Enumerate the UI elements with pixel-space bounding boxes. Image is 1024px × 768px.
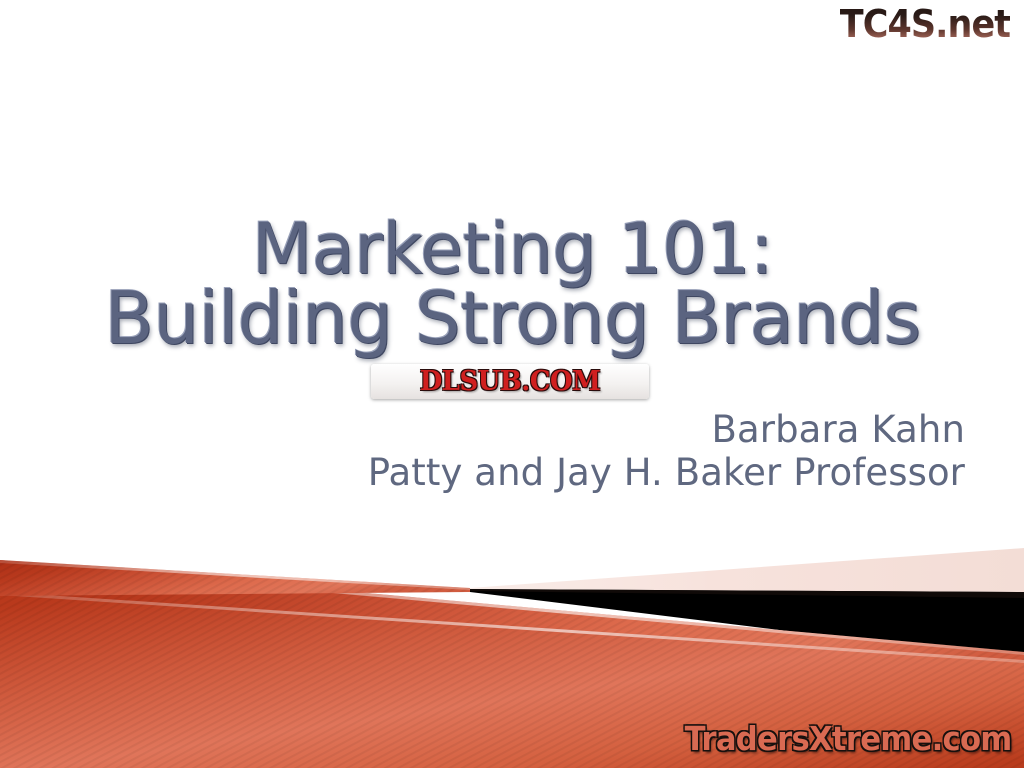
subtitle-line-affiliation: Patty and Jay H. Baker Professor [60, 451, 965, 494]
slide-title: Marketing 101: Building Strong Brands [60, 216, 965, 354]
black-band [470, 589, 1024, 660]
title-line-1: Marketing 101: [60, 216, 965, 284]
slide-subtitle: Barbara Kahn Patty and Jay H. Baker Prof… [60, 408, 965, 495]
pale-pink-band [470, 548, 1024, 592]
title-slide: Marketing 101: Building Strong Brands Ba… [0, 0, 1024, 768]
title-line-2: Building Strong Brands [60, 284, 965, 354]
watermark-dlsub-text: DLSUB.COM [420, 366, 601, 397]
watermark-tradersxtreme: TradersXtreme.com [685, 719, 1012, 758]
orange-band-top-left-wedge [0, 560, 470, 596]
subtitle-line-author: Barbara Kahn [60, 408, 965, 451]
watermark-dlsub-box: DLSUB.COM [371, 364, 649, 399]
watermark-tc4s: TC4S.net [840, 2, 1010, 46]
